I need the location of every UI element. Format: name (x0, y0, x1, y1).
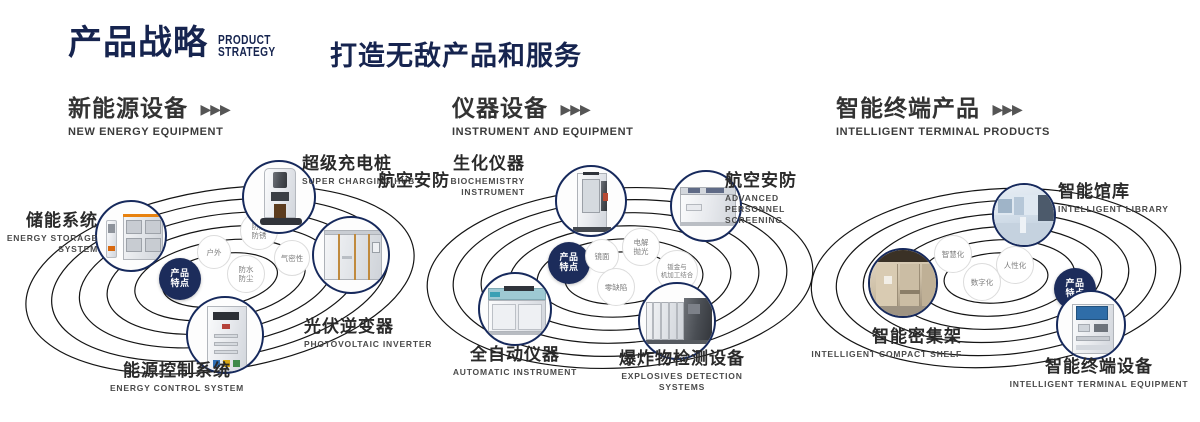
cluster-instrument: 产品 特点 镜面 电解 抛光 钣金与 机加工结合 零缺陷 (420, 150, 820, 410)
node-bubble-photovoltaic-inverter (312, 216, 390, 294)
core-badge: 产品 特点 (159, 258, 201, 300)
feature-line1: 气密性 (281, 254, 304, 263)
product-strategy-infographic: 产品战略 PRODUCT STRATEGY 打造无敌产品和服务 新能源设备 ▶▶… (0, 0, 1200, 422)
core-badge: 产品 特点 (548, 242, 590, 284)
intelligent-library-photo (994, 185, 1054, 245)
terminal-equipment-photo (1058, 292, 1124, 358)
node-bubble-energy-storage (95, 200, 167, 272)
label-energy-control-system: 能源控制系统 ENERGY CONTROL SYSTEM (82, 362, 272, 394)
label-cn: 全自动仪器 (440, 346, 590, 365)
label-cn: 智能终端设备 (1004, 358, 1194, 377)
section-title-new-energy: 新能源设备 ▶▶▶ NEW ENERGY EQUIPMENT (68, 96, 230, 138)
feature-line2: 抛光 (634, 247, 649, 256)
label-explosives-detection: 爆炸物检测设备 EXPLOSIVES DETECTION SYSTEMS (602, 350, 762, 393)
feature-bubble-electropolish: 电解 抛光 (622, 228, 660, 266)
feature-line1: 防水 (239, 265, 254, 274)
feature-line1: 智慧化 (942, 250, 965, 259)
node-bubble-intelligent-library (992, 183, 1056, 247)
label-intelligent-library: 智能馆库 INTELLIGENT LIBRARY (1058, 183, 1198, 215)
label-en: INTELLIGENT LIBRARY (1058, 204, 1198, 215)
page-title-english: PRODUCT STRATEGY (218, 34, 276, 58)
label-cn: 储能系统 (0, 212, 98, 231)
label-en: EXPLOSIVES DETECTION SYSTEMS (602, 371, 762, 393)
cluster-intelligent-terminal: 产品 特点 智慧化 数字化 人性化 (806, 150, 1200, 410)
node-bubble-biochemistry-instrument (555, 165, 627, 237)
feature-line1: 数字化 (971, 278, 994, 287)
explosives-detection-photo (640, 284, 714, 358)
feature-line1: 零缺陷 (605, 283, 628, 292)
label-biochemistry-instrument: 生化仪器 BIOCHEMISTRY INSTRUMENT (405, 155, 525, 198)
page-title: 产品战略 (68, 26, 208, 60)
section-title-en: NEW ENERGY EQUIPMENT (68, 126, 230, 138)
label-energy-storage: 储能系统 ENERGY STORAGE SYSTEM (0, 212, 98, 255)
label-intelligent-compact-shelf: 智能密集架 INTELLIGENT COMPACT SHELF (782, 328, 962, 360)
section-title-en: INSTRUMENT AND EQUIPMENT (452, 126, 633, 138)
label-cn: 智能密集架 (782, 328, 962, 347)
automatic-instrument-photo (480, 274, 550, 344)
energy-storage-photo (97, 202, 165, 270)
label-en: ENERGY STORAGE SYSTEM (0, 233, 98, 255)
page-title-english-line2: STRATEGY (218, 46, 276, 58)
label-en: INTELLIGENT COMPACT SHELF (782, 349, 962, 360)
label-en: INTELLIGENT TERMINAL EQUIPMENT (1004, 379, 1194, 390)
core-label-line1: 产品 (559, 253, 578, 263)
core-label-line2: 特点 (170, 279, 189, 289)
chevron-right-icon: ▶▶▶ (560, 101, 589, 118)
section-title-en: INTELLIGENT TERMINAL PRODUCTS (836, 126, 1050, 138)
feature-line1: 钣金与 (667, 263, 687, 271)
section-title-cn: 智能终端产品 (836, 96, 980, 122)
core-label-line2: 特点 (559, 263, 578, 273)
label-en: BIOCHEMISTRY INSTRUMENT (425, 176, 525, 198)
feature-bubble-zero-defect: 零缺陷 (597, 268, 635, 306)
feature-bubble-digital: 数字化 (963, 263, 1001, 301)
label-cn: 爆炸物检测设备 (602, 350, 762, 369)
section-title-intelligent-terminal: 智能终端产品 ▶▶▶ INTELLIGENT TERMINAL PRODUCTS (836, 96, 1050, 138)
feature-bubble-intelligent: 智慧化 (934, 235, 972, 273)
feature-line1: 人性化 (1004, 261, 1027, 270)
feature-line2: 防锈 (252, 231, 267, 240)
node-bubble-intelligent-compact-shelf (868, 248, 938, 318)
feature-line1: 镜面 (595, 252, 610, 261)
label-cn: 智能馆库 (1058, 183, 1198, 202)
label-intelligent-terminal-equipment: 智能终端设备 INTELLIGENT TERMINAL EQUIPMENT (1004, 358, 1194, 390)
biochem-instrument-photo (557, 167, 625, 235)
label-en: AUTOMATIC INSTRUMENT (440, 367, 590, 378)
page-slogan: 打造无敌产品和服务 (330, 34, 582, 73)
section-title-instrument: 仪器设备 ▶▶▶ INSTRUMENT AND EQUIPMENT (452, 96, 633, 138)
node-bubble-automatic-instrument (478, 272, 552, 346)
feature-bubble-waterproof: 防水 防尘 (227, 255, 265, 293)
label-automatic-instrument: 全自动仪器 AUTOMATIC INSTRUMENT (440, 346, 590, 378)
feature-line2: 机加工结合 (661, 271, 694, 279)
compact-shelf-photo (870, 250, 936, 316)
section-title-cn: 仪器设备 (452, 96, 548, 122)
core-label-line1: 产品 (1065, 279, 1084, 289)
feature-line1: 户外 (207, 248, 222, 257)
chevron-right-icon: ▶▶▶ (992, 101, 1021, 118)
feature-bubble-humanized: 人性化 (996, 246, 1034, 284)
chevron-right-icon: ▶▶▶ (200, 101, 229, 118)
label-cn: 生化仪器 (405, 155, 525, 174)
feature-bubble-airtight: 气密性 (274, 240, 310, 276)
core-label-line1: 产品 (170, 269, 189, 279)
label-cn: 能源控制系统 (82, 362, 272, 381)
section-title-cn: 新能源设备 (68, 96, 188, 122)
feature-line2: 防尘 (239, 274, 254, 283)
feature-bubble-outdoor: 户外 (197, 235, 231, 269)
page-header: 产品战略 PRODUCT STRATEGY (68, 26, 292, 60)
feature-line1: 电解 (634, 238, 649, 247)
pv-inverter-photo (314, 218, 388, 292)
node-bubble-intelligent-terminal-equipment (1056, 290, 1126, 360)
label-en: ENERGY CONTROL SYSTEM (82, 383, 272, 394)
